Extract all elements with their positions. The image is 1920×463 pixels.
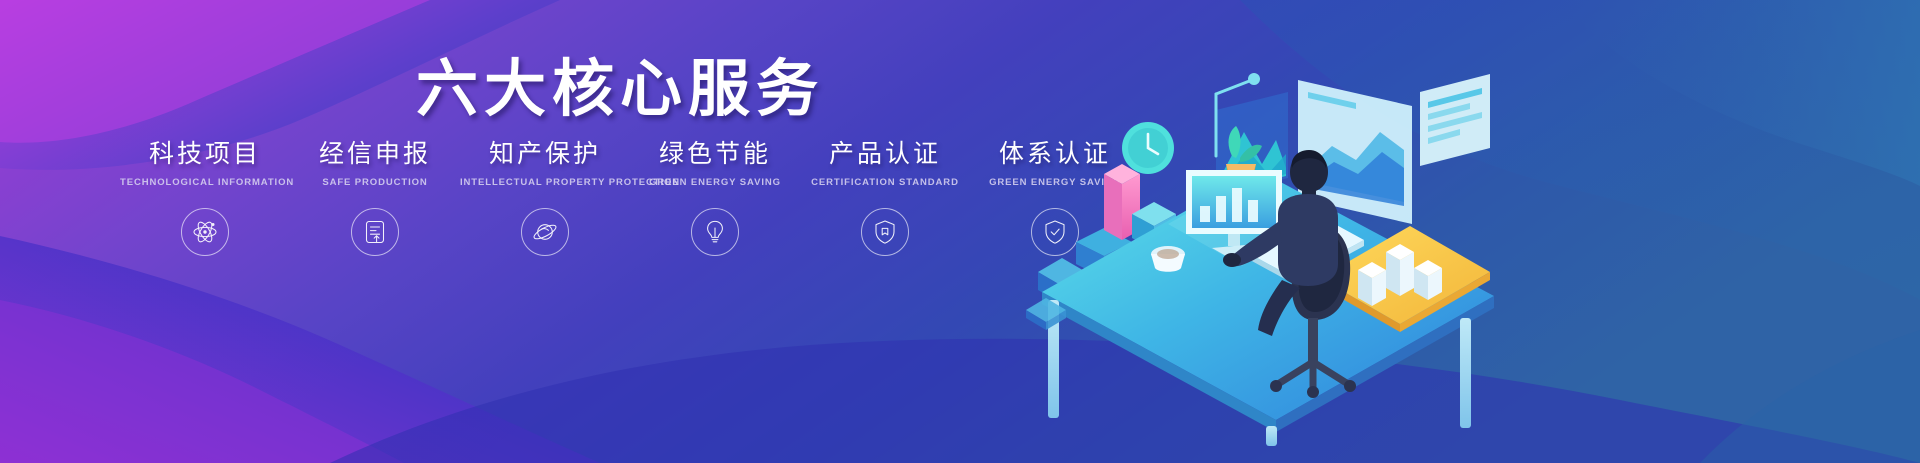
service-title-en: CERTIFICATION STANDARD bbox=[800, 177, 970, 188]
atom-icon[interactable] bbox=[181, 208, 229, 256]
wall-screen-document bbox=[1420, 74, 1490, 166]
service-title-cn: 科技项目 bbox=[120, 140, 290, 168]
service-title-en: SAFE PRODUCTION bbox=[290, 177, 460, 188]
service-title-cn: 经信申报 bbox=[290, 140, 460, 168]
service-title-cn: 产品认证 bbox=[800, 140, 970, 168]
service-title-cn: 绿色节能 bbox=[630, 140, 800, 168]
lightbulb-icon[interactable] bbox=[691, 208, 739, 256]
service-item[interactable]: 绿色节能 GREEN ENERGY SAVING bbox=[630, 140, 800, 256]
service-title-en: TECHNOLOGICAL INFORMATION bbox=[120, 177, 290, 188]
service-title-cn: 知产保护 bbox=[460, 140, 630, 168]
hero-banner: 六大核心服务 科技项目 TECHNOLOGICAL INFORMATION 经信… bbox=[0, 0, 1920, 463]
service-item[interactable]: 知产保护 INTELLECTUAL PROPERTY PROTECTION bbox=[460, 140, 630, 256]
service-title-en: GREEN ENERGY SAVING bbox=[630, 177, 800, 188]
isometric-office-illustration bbox=[1020, 28, 1920, 448]
document-upload-icon[interactable] bbox=[351, 208, 399, 256]
service-item[interactable]: 产品认证 CERTIFICATION STANDARD bbox=[800, 140, 970, 256]
service-item[interactable]: 经信申报 SAFE PRODUCTION bbox=[290, 140, 460, 256]
clock-icon bbox=[1122, 122, 1174, 174]
shield-badge-icon[interactable] bbox=[861, 208, 909, 256]
coffee-cup bbox=[1151, 246, 1185, 272]
planet-icon[interactable] bbox=[521, 208, 569, 256]
service-item[interactable]: 科技项目 TECHNOLOGICAL INFORMATION bbox=[120, 140, 290, 256]
service-title-en: INTELLECTUAL PROPERTY PROTECTION bbox=[460, 177, 630, 188]
services-list: 科技项目 TECHNOLOGICAL INFORMATION 经信申报 SAFE… bbox=[120, 140, 1140, 256]
